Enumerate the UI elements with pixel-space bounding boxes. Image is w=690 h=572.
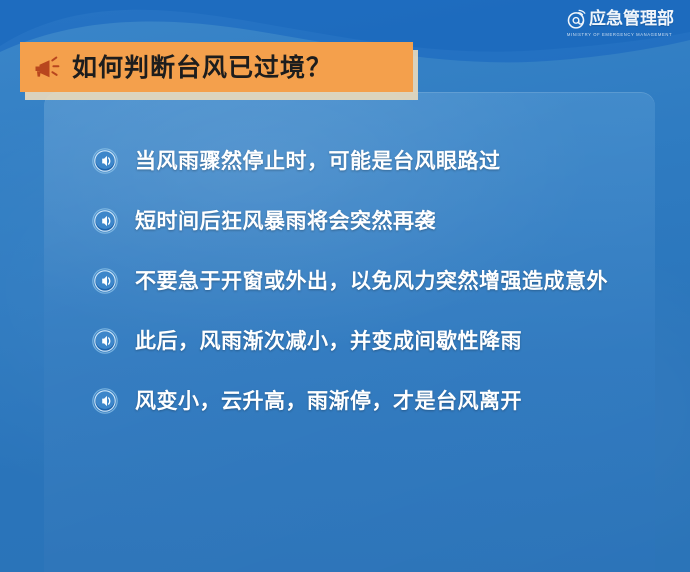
speaker-icon — [92, 388, 118, 414]
list-item: 此后，风雨渐次减小，并变成间歇性降雨 — [92, 324, 637, 358]
page-title: 如何判断台风已过境？ — [72, 55, 332, 80]
list-item: 短时间后狂风暴雨将会突然再袭 — [92, 204, 637, 238]
list-item-text: 当风雨骤然停止时，可能是台风眼路过 — [135, 144, 501, 178]
tips-list: 当风雨骤然停止时，可能是台风眼路过 短时间后狂风暴雨将会突然再袭 — [44, 92, 655, 444]
speaker-icon — [92, 148, 118, 174]
list-item: 不要急于开窗或外出，以免风力突然增强造成意外 — [92, 264, 637, 298]
megaphone-icon — [32, 55, 62, 81]
list-item-text: 不要急于开窗或外出，以免风力突然增强造成意外 — [135, 264, 608, 298]
at-sign-wifi-mark-icon — [565, 8, 587, 30]
logo-row: 应急管理部 — [565, 8, 674, 30]
list-item-text: 风变小，云升高，雨渐停，才是台风离开 — [135, 384, 522, 418]
title-ribbon: 如何判断台风已过境？ — [20, 42, 413, 92]
logo-name: 应急管理部 — [589, 11, 674, 28]
list-item: 风变小，云升高，雨渐停，才是台风离开 — [92, 384, 637, 418]
list-item-text: 此后，风雨渐次减小，并变成间歇性降雨 — [135, 324, 522, 358]
speaker-icon — [92, 268, 118, 294]
ministry-logo: 应急管理部 MINISTRY OF EMERGENCY MANAGEMENT — [565, 8, 674, 37]
list-item: 当风雨骤然停止时，可能是台风眼路过 — [92, 144, 637, 178]
ribbon-body: 如何判断台风已过境？ — [20, 42, 413, 92]
speaker-icon — [92, 328, 118, 354]
logo-subtitle: MINISTRY OF EMERGENCY MANAGEMENT — [567, 32, 672, 38]
infographic-poster: 应急管理部 MINISTRY OF EMERGENCY MANAGEMENT 如… — [0, 0, 690, 572]
list-item-text: 短时间后狂风暴雨将会突然再袭 — [135, 204, 436, 238]
speaker-icon — [92, 208, 118, 234]
